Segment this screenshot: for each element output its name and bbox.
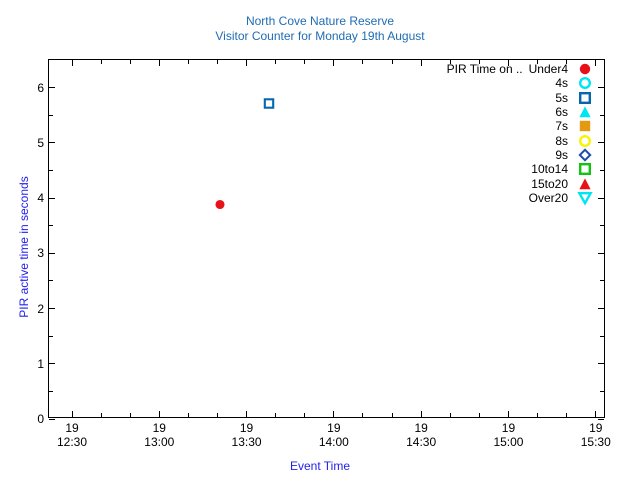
y-tick-label: 0 <box>37 412 44 426</box>
y-tick-label: 3 <box>37 246 44 260</box>
y-tick-label: 6 <box>37 81 44 95</box>
axis-tick <box>479 413 480 417</box>
axis-tick <box>600 115 604 116</box>
axis-tick <box>275 413 276 417</box>
x-tick-label: 1913:00 <box>144 421 174 449</box>
legend-item-10to14[interactable]: 10to14 <box>380 162 595 176</box>
axis-tick <box>333 411 334 417</box>
x-tick-label: 1915:30 <box>581 421 611 449</box>
legend-marker-triangle-down-open-icon <box>575 190 595 206</box>
axis-tick <box>188 413 189 417</box>
legend-item-4s[interactable]: 4s <box>380 76 595 90</box>
axis-tick <box>246 60 247 66</box>
x-axis-title: Event Time <box>0 459 640 473</box>
axis-tick <box>49 363 55 364</box>
legend-item-label: 8s <box>555 134 575 148</box>
y-tick-label: 4 <box>37 191 44 205</box>
axis-tick <box>600 170 604 171</box>
axis-tick <box>333 60 334 66</box>
axis-tick <box>49 115 53 116</box>
axis-tick <box>49 170 53 171</box>
axis-tick <box>598 198 604 199</box>
axis-tick <box>537 413 538 417</box>
axis-tick <box>72 411 73 417</box>
axis-tick <box>450 413 451 417</box>
axis-tick <box>600 391 604 392</box>
y-tick-label: 5 <box>37 136 44 150</box>
x-tick-label: 1913:30 <box>232 421 262 449</box>
axis-tick <box>421 411 422 417</box>
axis-tick <box>595 411 596 417</box>
legend-item-label: Under4 <box>529 62 575 76</box>
legend-item-under4[interactable]: PIR Time on ..Under4 <box>380 62 595 76</box>
legend-item-over20[interactable]: Over20 <box>380 191 595 205</box>
data-point-under4 <box>213 198 227 217</box>
x-tick-label: 1914:30 <box>406 421 436 449</box>
axis-tick <box>508 411 509 417</box>
axis-tick <box>598 142 604 143</box>
axis-tick <box>217 413 218 417</box>
axis-tick <box>598 419 604 420</box>
axis-tick <box>362 413 363 417</box>
axis-tick <box>72 60 73 66</box>
title-line-1: North Cove Nature Reserve <box>0 14 640 29</box>
axis-tick <box>598 87 604 88</box>
axis-tick <box>49 391 53 392</box>
axis-tick <box>217 60 218 64</box>
axis-tick <box>49 142 55 143</box>
axis-tick <box>598 308 604 309</box>
axis-tick <box>595 60 596 66</box>
legend-item-7s[interactable]: 7s <box>380 119 595 133</box>
legend-item-8s[interactable]: 8s <box>380 133 595 147</box>
legend: PIR Time on ..Under44s5s6s7s8s9s10to1415… <box>380 62 595 205</box>
axis-tick <box>362 60 363 64</box>
axis-tick <box>49 419 55 420</box>
title-line-2: Visitor Counter for Monday 19th August <box>0 29 640 44</box>
axis-tick <box>49 225 53 226</box>
legend-item-label: 9s <box>555 148 575 162</box>
legend-item-label: 5s <box>555 91 575 105</box>
axis-tick <box>566 413 567 417</box>
legend-item-9s[interactable]: 9s <box>380 148 595 162</box>
axis-tick <box>159 411 160 417</box>
axis-tick <box>600 336 604 337</box>
axis-tick <box>598 363 604 364</box>
y-tick-label: 2 <box>37 302 44 316</box>
axis-tick <box>600 280 604 281</box>
legend-item-label: 4s <box>555 76 575 90</box>
legend-item-label: 15to20 <box>531 177 575 191</box>
axis-tick <box>392 413 393 417</box>
legend-item-label: Over20 <box>529 191 575 205</box>
axis-tick <box>49 308 55 309</box>
y-axis-title: PIR active time in seconds <box>17 117 31 377</box>
axis-tick <box>246 411 247 417</box>
legend-item-6s[interactable]: 6s <box>380 105 595 119</box>
axis-tick <box>101 60 102 64</box>
y-tick-label: 1 <box>37 357 44 371</box>
legend-item-label: 6s <box>555 105 575 119</box>
axis-tick <box>188 60 189 64</box>
axis-tick <box>49 280 53 281</box>
axis-tick <box>598 253 604 254</box>
axis-tick <box>159 60 160 66</box>
axis-tick <box>275 60 276 64</box>
x-tick-label: 1915:00 <box>493 421 523 449</box>
legend-item-label: 7s <box>555 119 575 133</box>
axis-tick <box>101 413 102 417</box>
axis-tick <box>49 198 55 199</box>
axis-tick <box>304 413 305 417</box>
axis-tick <box>600 225 604 226</box>
legend-item-15to20[interactable]: 15to20 <box>380 176 595 190</box>
page-title: North Cove Nature Reserve Visitor Counte… <box>0 14 640 44</box>
axis-tick <box>130 413 131 417</box>
axis-tick <box>49 253 55 254</box>
x-tick-label: 1914:00 <box>319 421 349 449</box>
data-point-5s <box>262 96 276 115</box>
axis-tick <box>49 87 55 88</box>
axis-tick <box>130 60 131 64</box>
x-tick-label: 1912:30 <box>57 421 87 449</box>
axis-tick <box>49 336 53 337</box>
legend-item-label: 10to14 <box>531 162 575 176</box>
axis-tick <box>304 60 305 64</box>
legend-title: PIR Time on .. <box>447 62 529 76</box>
legend-item-5s[interactable]: 5s <box>380 91 595 105</box>
